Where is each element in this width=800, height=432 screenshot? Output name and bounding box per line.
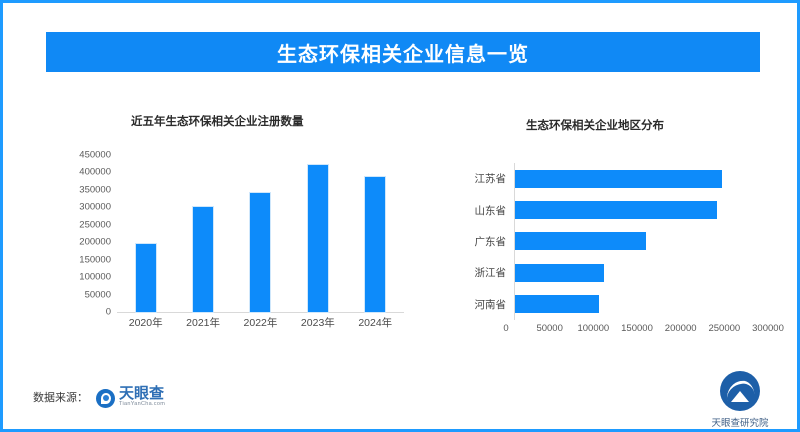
y-axis-tick: 400000 xyxy=(79,167,111,178)
publisher-brand: 天眼查研究院 xyxy=(697,371,783,429)
y-axis-tick: 250000 xyxy=(79,219,111,230)
y-axis-tick-labels: 4500004000003500003000002500002000001500… xyxy=(59,155,111,318)
x-axis-category-label: 2021年 xyxy=(177,315,229,337)
column-item[interactable] xyxy=(120,155,172,312)
y-axis-tick: 300000 xyxy=(79,202,111,213)
x-axis-tick: 100000 xyxy=(577,323,609,334)
data-source-credit: 数据来源： 天眼查 TianYanCha.com xyxy=(33,386,165,408)
chart-title-registrations: 近五年生态环保相关企业注册数量 xyxy=(131,113,304,129)
column-item[interactable] xyxy=(235,155,287,312)
chart-title-region-distribution: 生态环保相关企业地区分布 xyxy=(526,117,664,133)
data-source-label: 数据来源： xyxy=(33,389,88,405)
x-axis-category-label: 2022年 xyxy=(235,315,287,337)
x-axis-tick: 250000 xyxy=(708,323,740,334)
x-axis-tick: 150000 xyxy=(621,323,653,334)
page-title: 生态环保相关企业信息一览 xyxy=(277,38,529,67)
y-axis-tick: 350000 xyxy=(79,184,111,195)
bar-fill[interactable] xyxy=(515,170,722,188)
column-bar[interactable] xyxy=(136,244,156,312)
bar-row[interactable]: 山东省 xyxy=(423,194,768,225)
registration-count-chart-panel: 近五年生态环保相关企业注册数量 450000400000350000300000… xyxy=(59,103,409,343)
y-axis-tick: 150000 xyxy=(79,254,111,265)
column-bar[interactable] xyxy=(308,165,328,312)
title-banner: 生态环保相关企业信息一览 xyxy=(46,32,760,72)
bar-row[interactable]: 浙江省 xyxy=(423,257,768,288)
column-bar[interactable] xyxy=(193,207,213,312)
bar-track xyxy=(514,257,768,288)
research-institute-logo-icon xyxy=(720,371,760,411)
bar-track xyxy=(514,194,768,225)
bar-track xyxy=(514,289,768,320)
horizontal-bar-chart: 江苏省山东省广东省浙江省河南省 050000100000150000200000… xyxy=(423,163,778,353)
bar-row[interactable]: 河南省 xyxy=(423,289,768,320)
bar-track xyxy=(514,226,768,257)
tianyancha-name-cn: 天眼查 xyxy=(119,386,165,401)
bar-row[interactable]: 江苏省 xyxy=(423,163,768,194)
bar-category-label: 山东省 xyxy=(423,203,514,218)
x-axis-tick: 200000 xyxy=(665,323,697,334)
bar-category-label: 浙江省 xyxy=(423,265,514,280)
column-item[interactable] xyxy=(177,155,229,312)
x-axis-category-label: 2020年 xyxy=(120,315,172,337)
tianyancha-wordmark: 天眼查 TianYanCha.com xyxy=(119,386,165,408)
column-item[interactable] xyxy=(349,155,401,312)
bar-category-label: 广东省 xyxy=(423,234,514,249)
x-axis-tick: 0 xyxy=(503,323,508,334)
publisher-name: 天眼查研究院 xyxy=(711,415,768,429)
y-axis-tick: 450000 xyxy=(79,150,111,161)
x-axis-category-label: 2024年 xyxy=(349,315,401,337)
bar-rows-container: 江苏省山东省广东省浙江省河南省 xyxy=(423,163,768,320)
bar-track xyxy=(514,163,768,194)
infographic-canvas: 生态环保相关企业信息一览 近五年生态环保相关企业注册数量 45000040000… xyxy=(0,0,800,432)
bar-fill[interactable] xyxy=(515,201,717,219)
y-axis-tick: 0 xyxy=(106,307,111,318)
x-axis-category-label: 2023年 xyxy=(292,315,344,337)
tianyancha-logo: 天眼查 TianYanCha.com xyxy=(96,386,165,408)
column-item[interactable] xyxy=(292,155,344,312)
y-axis-tick: 200000 xyxy=(79,237,111,248)
bar-row[interactable]: 广东省 xyxy=(423,226,768,257)
bar-fill[interactable] xyxy=(515,295,599,313)
region-distribution-chart-panel: 生态环保相关企业地区分布 江苏省山东省广东省浙江省河南省 05000010000… xyxy=(423,103,783,353)
tianyancha-name-en: TianYanCha.com xyxy=(119,402,165,408)
bar-fill[interactable] xyxy=(515,264,604,282)
logo-peak-shape xyxy=(731,391,749,402)
x-axis-category-labels: 2020年2021年2022年2023年2024年 xyxy=(117,315,404,337)
y-axis-tick: 50000 xyxy=(85,289,111,300)
column-chart: 4500004000003500003000002500002000001500… xyxy=(59,155,404,343)
tianyancha-eye-icon xyxy=(96,389,115,408)
bar-fill[interactable] xyxy=(515,232,646,250)
bar-category-label: 江苏省 xyxy=(423,171,514,186)
column-bar[interactable] xyxy=(250,193,270,312)
column-bar[interactable] xyxy=(365,177,385,312)
x-axis-tick-labels: 050000100000150000200000250000300000 xyxy=(506,323,768,343)
bar-category-label: 河南省 xyxy=(423,297,514,312)
x-axis-tick: 300000 xyxy=(752,323,784,334)
y-axis-tick: 100000 xyxy=(79,272,111,283)
column-plot-area xyxy=(117,155,404,313)
x-axis-tick: 50000 xyxy=(536,323,562,334)
